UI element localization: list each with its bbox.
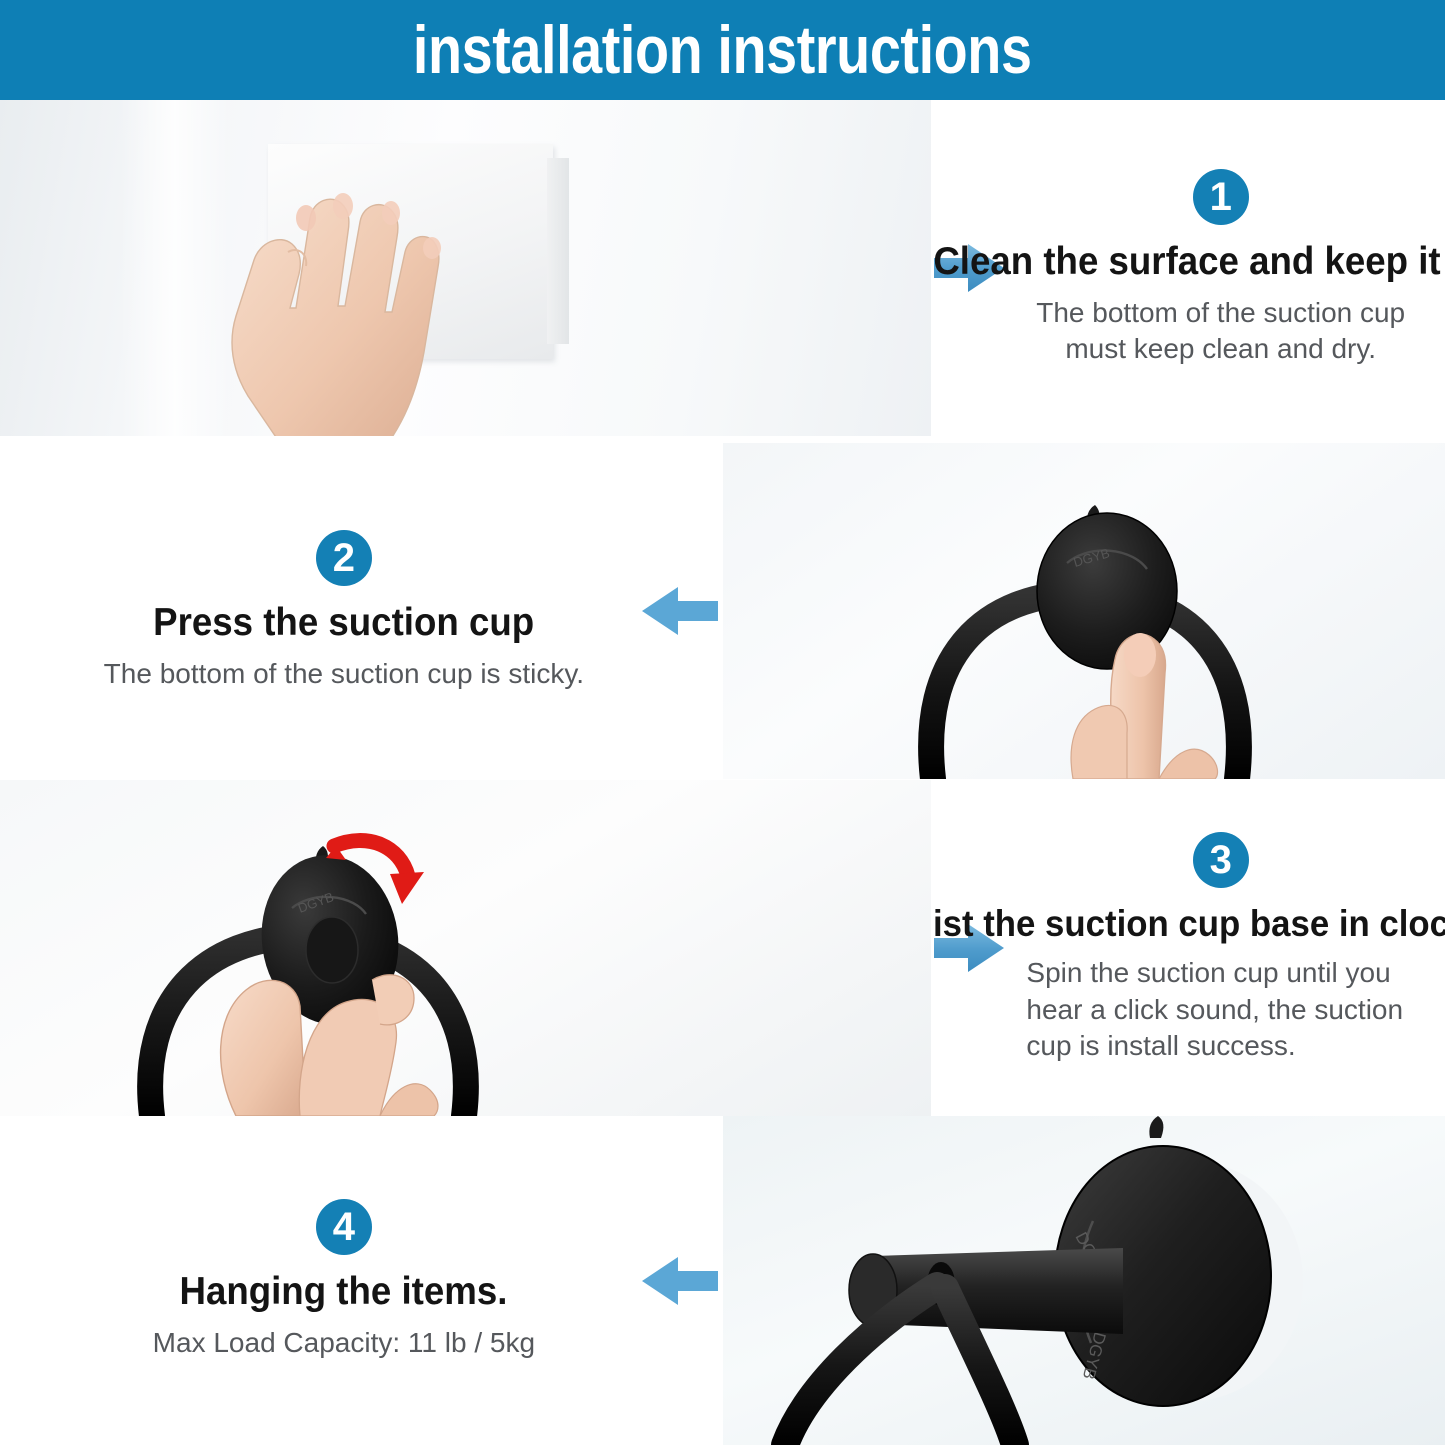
step-2-badge: 2 [316,530,372,586]
step-2-subtext: The bottom of the suction cup is sticky. [104,656,584,692]
mounted-suction-cup-illustration: DGYB DGYB [723,1116,1445,1445]
installation-instructions-infographic: installation instructions [0,0,1445,1445]
page-title: installation instructions [413,16,1032,84]
step-4-image: DGYB DGYB [723,1116,1445,1445]
step-4-text-panel: 4 Hanging the items. Max Load Capacity: … [0,1116,718,1445]
steps-grid: 1 Clean the surface and keep it dry The … [0,100,1445,1445]
step-4-heading: Hanging the items. [180,1269,508,1315]
step-3-image: DGYB [0,780,931,1116]
press-suction-cup-illustration: DGYB [723,443,1445,779]
hand-wiping-icon [210,156,470,436]
step-row-4: 4 Hanging the items. Max Load Capacity: … [0,1116,1445,1445]
step-3-text-panel: 3 Twist the suction cup base in clockwis… [934,780,1445,1116]
step-3-heading: Twist the suction cup base in clockwise. [934,902,1445,946]
step-2-image: DGYB [723,443,1445,779]
arrow-left-icon [642,1253,718,1309]
step-4-subtext: Max Load Capacity: 11 lb / 5kg [153,1325,535,1361]
arrow-left-icon [642,583,718,639]
step-3-subtext: Spin the suction cup until you hear a cl… [1026,955,1415,1064]
step-1-subtext: The bottom of the suction cup must keep … [1026,295,1415,368]
step-row-1: 1 Clean the surface and keep it dry The … [0,100,1445,436]
step-row-3: DGYB [0,780,1445,1116]
step-1-text-panel: 1 Clean the surface and keep it dry The … [934,100,1445,436]
twist-suction-cup-illustration: DGYB [0,780,720,1116]
step-row-2: 2 Press the suction cup The bottom of th… [0,443,1445,779]
step-2-heading: Press the suction cup [153,600,534,646]
step-2-text-panel: 2 Press the suction cup The bottom of th… [0,443,718,779]
step-1-badge: 1 [1193,169,1249,225]
step-4-badge: 4 [316,1199,372,1255]
step-1-image [0,100,931,436]
step-1-heading: Clean the surface and keep it dry [934,239,1445,285]
step-3-badge: 3 [1193,832,1249,888]
header-banner: installation instructions [0,0,1445,100]
